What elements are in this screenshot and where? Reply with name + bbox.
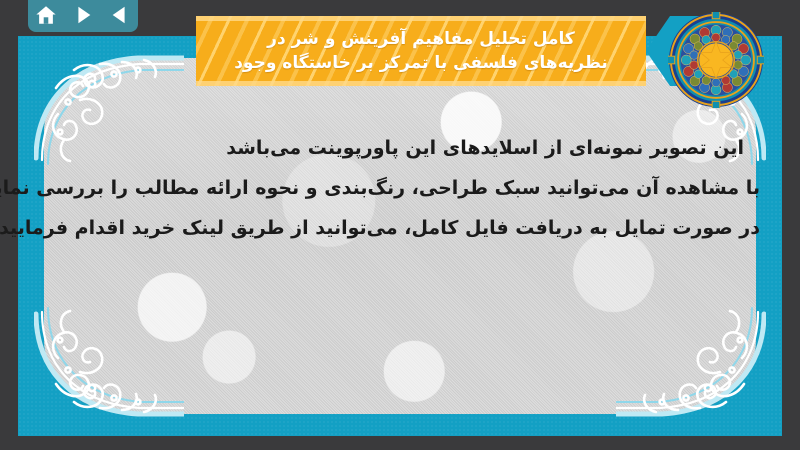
persian-mandala-medallion: [668, 12, 764, 108]
forward-button[interactable]: [72, 4, 94, 26]
body-line-2: با مشاهده آن می‌توانید سبک طراحی، رنگ‌بن…: [40, 168, 760, 208]
slide-title: کامل تحلیل مفاهیم آفرینش و شر در نظریه‌ه…: [224, 27, 618, 75]
body-line-3: در صورت تمایل به دریافت فایل کامل، می‌تو…: [40, 208, 760, 248]
back-button[interactable]: [109, 4, 131, 26]
triangle-right-icon: [72, 4, 94, 26]
banner-body: کامل تحلیل مفاهیم آفرینش و شر در نظریه‌ه…: [196, 16, 646, 86]
triangle-left-icon: [109, 4, 131, 26]
title-banner: کامل تحلیل مفاهیم آفرینش و شر در نظریه‌ه…: [196, 16, 726, 86]
slide-title-line-1: کامل تحلیل مفاهیم آفرینش و شر در: [234, 27, 608, 51]
navigation-bar: [28, 0, 138, 32]
home-button[interactable]: [35, 4, 57, 26]
body-line-1: این تصویر نمونه‌ای از اسلایدهای این پاور…: [40, 128, 760, 168]
slide-body-text: این تصویر نمونه‌ای از اسلایدهای این پاور…: [40, 128, 760, 248]
home-icon: [35, 4, 57, 26]
slide-viewer: کامل تحلیل مفاهیم آفرینش و شر در نظریه‌ه…: [0, 0, 800, 450]
slide-title-line-2: نظریه‌های فلسفی با تمرکز بر خاستگاه وجود: [234, 51, 608, 75]
